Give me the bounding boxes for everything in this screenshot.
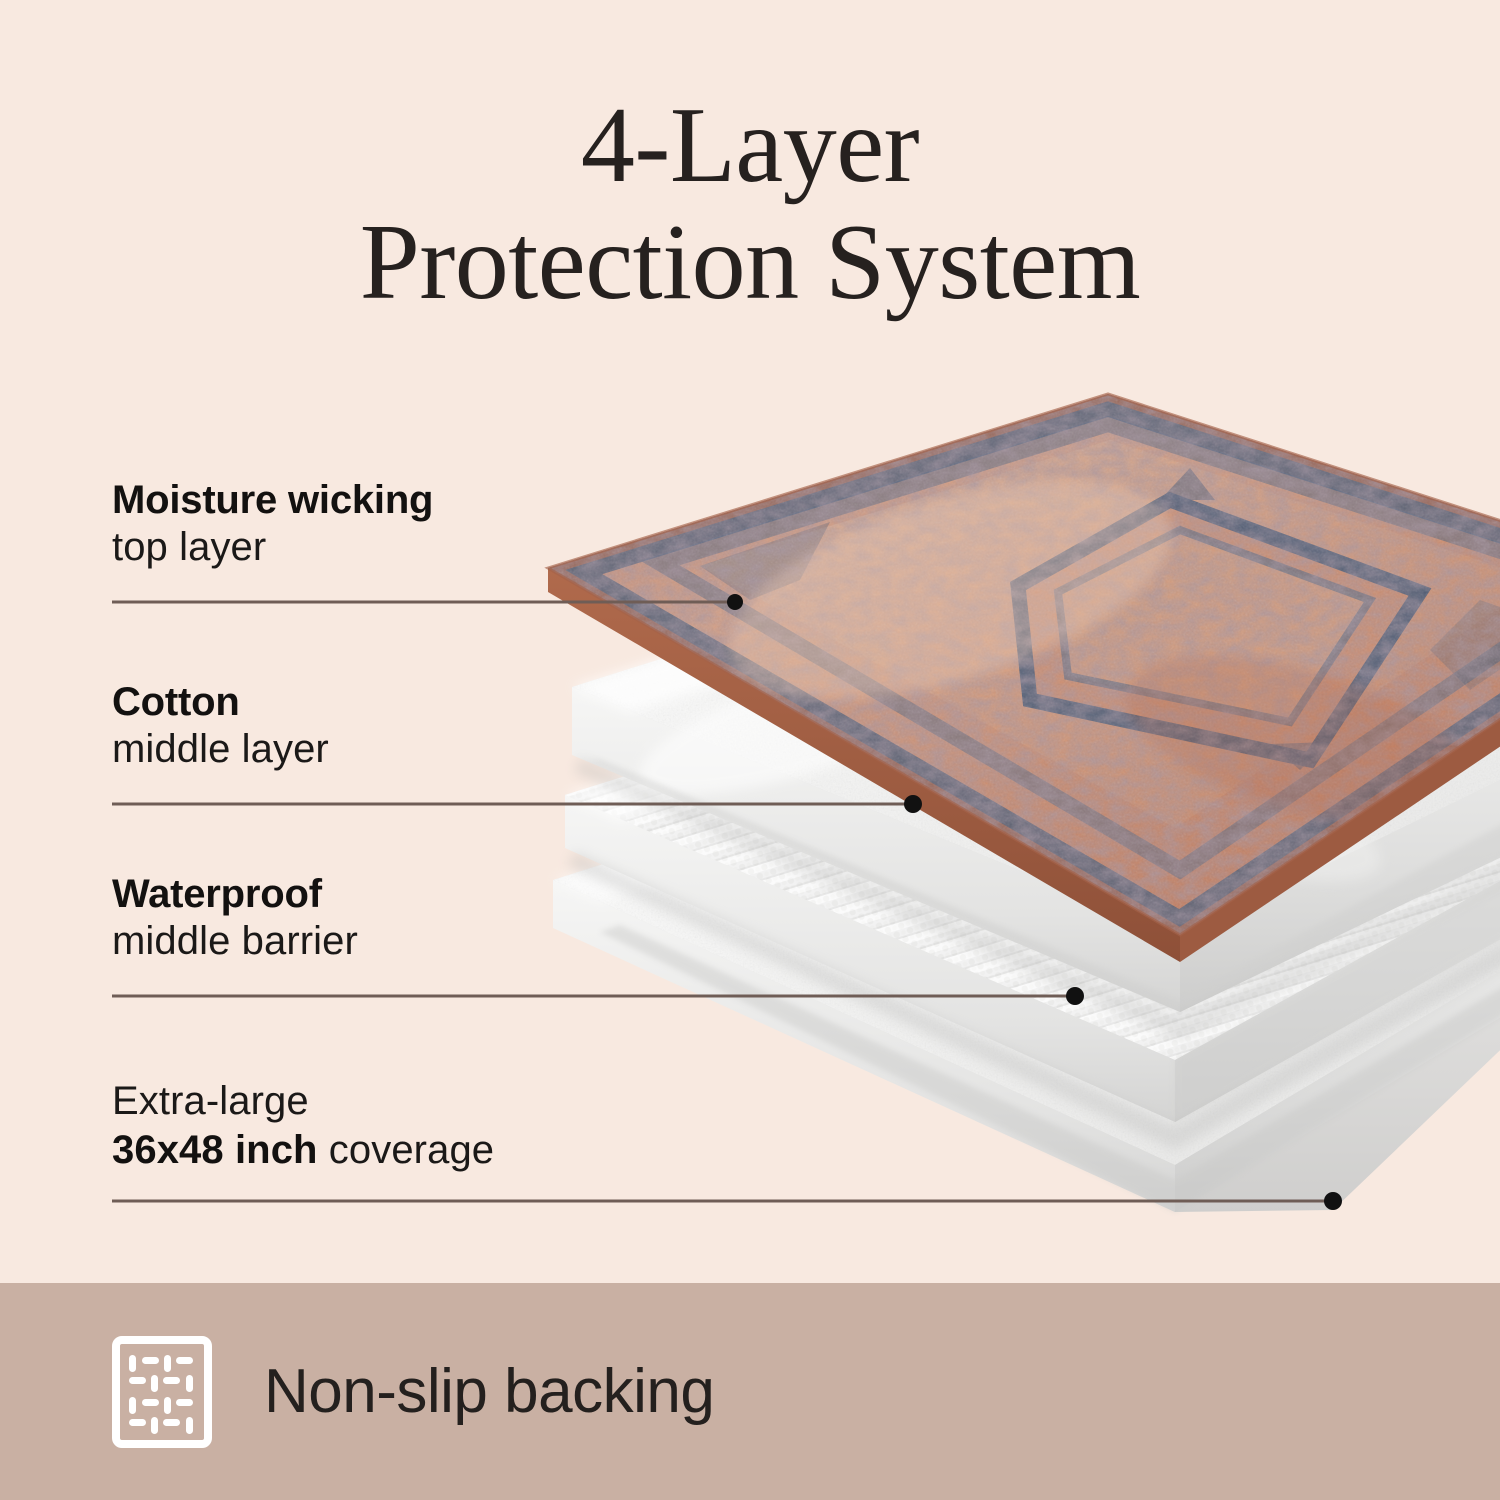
- layer-1-heading: Moisture wicking: [112, 478, 732, 523]
- size-note-dimensions: 36x48 inch: [112, 1128, 318, 1172]
- layer-label-waterproof: Waterproof middle barrier: [112, 872, 732, 966]
- leader-dot-1: [727, 594, 743, 610]
- layer-3-heading: Waterproof: [112, 872, 732, 917]
- non-slip-banner: Non-slip backing: [0, 1283, 1500, 1500]
- layer-2-heading: Cotton: [112, 680, 732, 725]
- size-note-line-2: 36x48 inch coverage: [112, 1126, 732, 1175]
- leader-dot-3: [1066, 987, 1084, 1005]
- leader-dot-2: [904, 795, 922, 813]
- page-title: 4-Layer Protection System: [0, 88, 1500, 321]
- title-line-1: 4-Layer: [0, 88, 1500, 205]
- layer-2-subtext: middle layer: [112, 725, 732, 774]
- leader-dot-4: [1324, 1192, 1342, 1210]
- layer-label-moisture-wicking: Moisture wicking top layer: [112, 478, 732, 572]
- size-note-coverage-word: coverage: [318, 1128, 495, 1172]
- layer-label-cotton: Cotton middle layer: [112, 680, 732, 774]
- title-line-2: Protection System: [0, 205, 1500, 322]
- size-note-line-1: Extra-large: [112, 1077, 732, 1126]
- infographic-page: 4-Layer Protection System Moisture wicki…: [0, 0, 1500, 1500]
- coverage-size-note: Extra-large 36x48 inch coverage: [112, 1077, 732, 1175]
- non-slip-grip-pattern-icon: [112, 1336, 212, 1448]
- layer-3-subtext: middle barrier: [112, 917, 732, 966]
- layer-1-subtext: top layer: [112, 523, 732, 572]
- non-slip-banner-label: Non-slip backing: [264, 1356, 714, 1427]
